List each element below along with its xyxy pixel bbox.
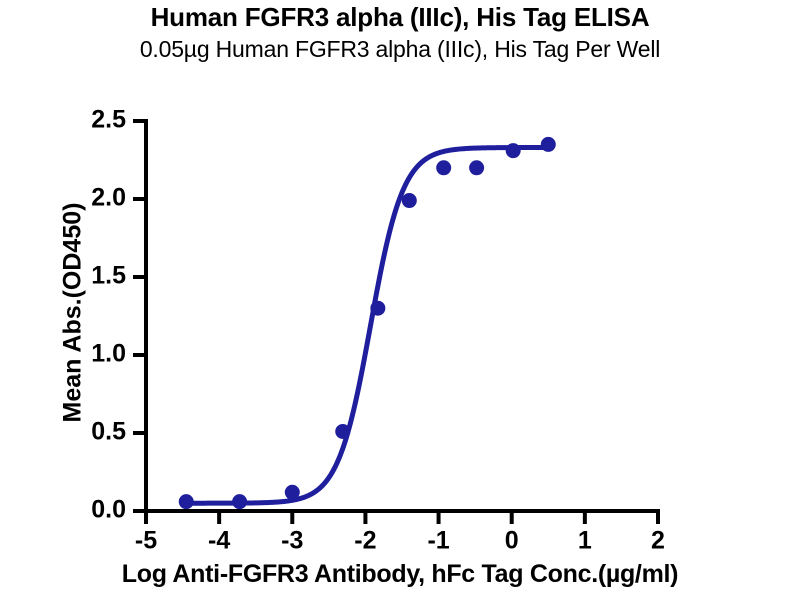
data-point [469, 160, 484, 175]
x-tick-label: 1 [578, 527, 592, 555]
data-point [436, 160, 451, 175]
x-tick-label: 0 [505, 527, 519, 555]
axis-spines [146, 121, 658, 511]
y-tick-label: 0.5 [91, 418, 126, 446]
y-tick-label: 2.5 [91, 106, 126, 134]
data-point-markers [179, 137, 556, 509]
plot-area: 0.00.51.01.52.02.5 -5-4-3-2-1012 [0, 0, 800, 600]
x-tick-labels: -5-4-3-2-1012 [135, 527, 665, 555]
y-tick-label: 1.5 [91, 262, 126, 290]
x-tick-label: -1 [427, 527, 449, 555]
x-tick-label: -4 [208, 527, 230, 555]
y-tick-label: 1.0 [91, 340, 126, 368]
x-tick-label: -2 [354, 527, 376, 555]
y-tick-labels: 0.00.51.01.52.02.5 [91, 106, 126, 524]
data-point [506, 143, 521, 158]
x-tick-label: -5 [135, 527, 157, 555]
sigmoid-fit-curve [186, 148, 548, 504]
chart-figure: Human FGFR3 alpha (IIIc), His Tag ELISA … [0, 0, 800, 600]
x-tick-label: -3 [281, 527, 303, 555]
data-point [541, 137, 556, 152]
y-tick-label: 2.0 [91, 184, 126, 212]
data-point [179, 494, 194, 509]
x-tick-label: 2 [651, 527, 665, 555]
data-point [285, 485, 300, 500]
y-tick-label: 0.0 [91, 496, 126, 524]
data-point [370, 301, 385, 316]
data-point [335, 424, 350, 439]
data-point [232, 494, 247, 509]
data-point [402, 193, 417, 208]
